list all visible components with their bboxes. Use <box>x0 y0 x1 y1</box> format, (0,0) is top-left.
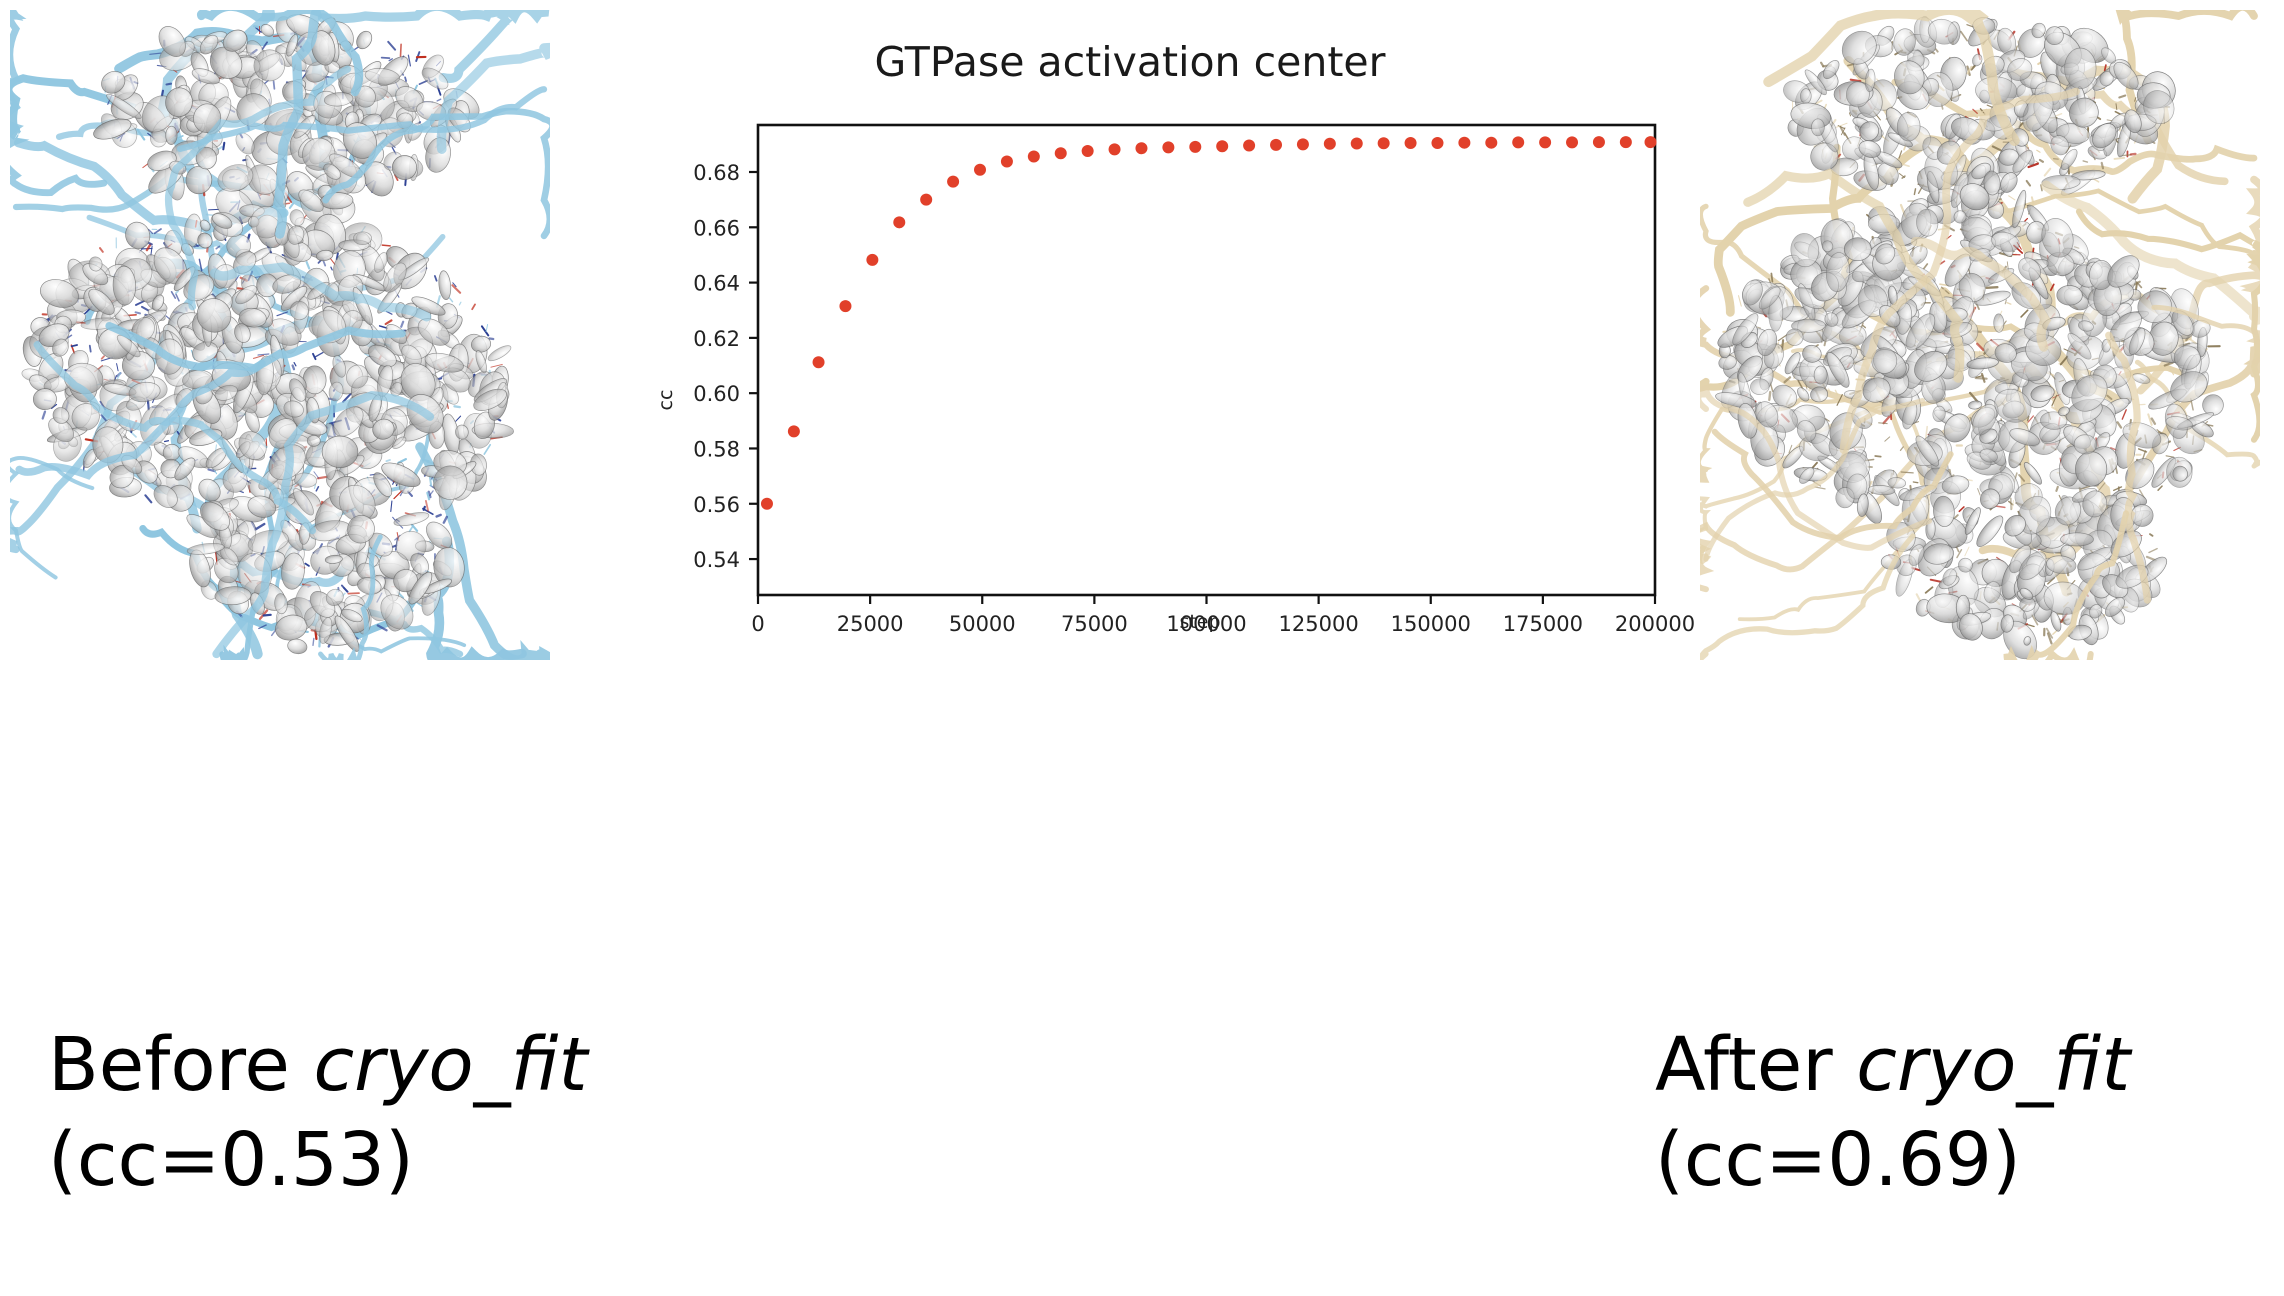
density-blob <box>1971 53 1984 67</box>
density-blob <box>303 366 326 394</box>
plot-frame <box>758 125 1655 595</box>
bond-stick <box>1961 32 1967 41</box>
bond-stick <box>405 77 406 81</box>
bond-stick <box>293 366 294 370</box>
bond-stick <box>102 356 104 358</box>
density-blob <box>1814 366 1827 384</box>
bond-stick <box>1926 587 1933 593</box>
bond-stick <box>2098 117 2101 119</box>
bond-stick <box>315 353 323 357</box>
caption-before-line1: Before cryo_fit <box>48 1018 587 1113</box>
bond-stick <box>1884 417 1890 423</box>
y-tick-label: 0.54 <box>693 548 740 572</box>
data-point <box>1028 151 1040 163</box>
data-point <box>1162 141 1174 153</box>
scatter-series <box>761 136 1657 510</box>
data-point <box>1458 137 1470 149</box>
caption-after-line1: After cryo_fit <box>1655 1018 2130 1113</box>
bond-stick <box>2118 422 2121 427</box>
data-point <box>761 498 773 510</box>
bond-stick <box>331 267 332 270</box>
density-blob <box>1811 119 1825 136</box>
y-tick-label: 0.66 <box>693 216 740 240</box>
data-point <box>788 425 800 437</box>
data-point <box>947 176 959 188</box>
bond-stick <box>1771 274 1772 282</box>
bond-stick <box>2037 150 2040 152</box>
bond-stick <box>391 501 392 511</box>
data-point <box>1109 143 1121 155</box>
cryo-em-density-after <box>1700 10 2260 660</box>
molecule-image-after <box>1700 10 2260 660</box>
bond-stick <box>2045 169 2051 176</box>
data-point <box>1566 136 1578 148</box>
bond-stick <box>2158 486 2162 490</box>
bond-stick <box>136 312 140 313</box>
bond-stick <box>2150 534 2153 536</box>
bond-stick <box>2021 310 2028 317</box>
density-blob <box>274 593 288 614</box>
x-tick-label: 200000 <box>1615 612 1695 636</box>
bond-stick <box>2122 410 2126 419</box>
bond-stick <box>1875 456 1881 457</box>
bond-stick <box>1901 472 1913 473</box>
bond-stick <box>1914 189 1915 195</box>
caption-before-prefix: Before <box>48 1022 313 1108</box>
bond-stick <box>389 59 392 61</box>
bond-stick <box>388 42 395 50</box>
data-point <box>1539 136 1551 148</box>
bond-stick <box>450 298 453 302</box>
bond-stick <box>2005 300 2006 304</box>
bond-stick <box>1900 174 1905 178</box>
y-tick-label: 0.68 <box>693 161 740 185</box>
bond-stick <box>1879 423 1887 424</box>
bond-stick <box>90 346 91 352</box>
density-blob <box>307 435 320 446</box>
caption-after-line2: (cc=0.69) <box>1655 1113 2130 1208</box>
cryo-em-density-before <box>10 10 550 660</box>
x-tick-label: 125000 <box>1279 612 1359 636</box>
y-tick-label: 0.56 <box>693 493 740 517</box>
y-axis-label: cc <box>655 390 677 411</box>
bond-stick <box>1987 105 1992 107</box>
bond-stick <box>1917 594 1920 600</box>
bond-stick <box>2012 501 2013 510</box>
density-blob <box>353 232 371 245</box>
bond-stick <box>142 307 148 311</box>
bond-stick <box>1885 437 1890 441</box>
data-point <box>1001 155 1013 167</box>
bond-stick <box>143 164 148 168</box>
bond-stick <box>2107 120 2112 121</box>
data-point <box>1378 137 1390 149</box>
bond-stick <box>313 639 314 646</box>
bond-stick <box>2149 549 2157 553</box>
bond-stick <box>408 55 410 66</box>
bond-stick <box>486 325 488 332</box>
bond-stick <box>305 564 309 566</box>
bond-stick <box>426 501 428 511</box>
bond-stick <box>258 354 269 355</box>
density-blob <box>2057 285 2083 305</box>
bond-stick <box>255 524 264 530</box>
bond-stick <box>254 26 258 27</box>
bond-stick <box>1931 580 1942 582</box>
data-point <box>1135 142 1147 154</box>
bond-stick <box>430 476 431 485</box>
y-tick-label: 0.60 <box>693 382 740 406</box>
bond-stick <box>2056 487 2057 491</box>
bond-stick <box>151 246 152 255</box>
bond-stick <box>1913 482 1917 483</box>
slide-canvas: GTPase activation center 0.540.560.580.6… <box>0 0 2284 1296</box>
x-tick-label: 25000 <box>837 612 904 636</box>
bond-stick <box>2119 96 2125 98</box>
bond-stick <box>209 209 219 210</box>
density-blob <box>322 436 358 468</box>
bond-stick <box>167 84 172 85</box>
bond-stick <box>72 345 78 346</box>
bond-stick <box>444 517 447 523</box>
bond-stick <box>1957 548 1959 551</box>
data-point <box>1405 137 1417 149</box>
bond-stick <box>2040 160 2043 162</box>
bond-stick <box>136 301 144 305</box>
density-blob <box>2065 48 2097 89</box>
bond-stick <box>294 363 296 366</box>
bond-stick <box>2036 161 2039 163</box>
bond-stick <box>386 320 392 324</box>
data-point <box>1270 139 1282 151</box>
bond-stick <box>459 302 461 305</box>
density-blob <box>1844 237 1871 260</box>
data-point <box>1243 139 1255 151</box>
bond-stick <box>1769 392 1770 400</box>
bond-stick <box>264 615 271 616</box>
bond-stick <box>1924 264 1927 269</box>
bond-stick <box>2027 181 2030 186</box>
bond-stick <box>172 292 176 298</box>
density-blob <box>166 126 178 145</box>
bond-stick <box>148 401 149 410</box>
bond-stick <box>1936 49 1938 51</box>
bond-stick <box>2025 219 2028 221</box>
bond-stick <box>401 322 403 327</box>
data-point <box>813 356 825 368</box>
bond-stick <box>274 81 275 88</box>
bond-stick <box>423 460 428 461</box>
density-blob <box>2061 533 2094 546</box>
bond-stick <box>165 441 169 442</box>
data-point <box>1431 137 1443 149</box>
bond-stick <box>313 354 316 359</box>
bond-stick <box>344 588 348 592</box>
bond-stick <box>2131 154 2136 155</box>
plot-layer: 0.540.560.580.600.620.640.660.6802500050… <box>693 125 1695 636</box>
caption-after-prefix: After <box>1655 1022 1856 1108</box>
data-point <box>1512 136 1524 148</box>
density-blob <box>1993 314 2004 333</box>
data-point <box>839 300 851 312</box>
data-point <box>1351 138 1363 150</box>
y-tick-label: 0.58 <box>693 437 740 461</box>
bond-stick <box>117 364 119 371</box>
bond-stick <box>455 406 460 407</box>
bond-stick <box>238 288 244 289</box>
y-tick-label: 0.64 <box>693 272 740 296</box>
bond-stick <box>223 143 224 150</box>
data-point <box>920 194 932 206</box>
bond-stick <box>2115 158 2125 159</box>
data-point <box>1216 140 1228 152</box>
bond-stick <box>437 515 441 517</box>
bond-stick <box>2152 419 2155 424</box>
bond-stick <box>2055 114 2061 116</box>
bond-stick <box>1965 547 1969 556</box>
bond-stick <box>437 99 441 101</box>
density-blob <box>1836 24 1883 71</box>
data-point <box>1620 136 1632 148</box>
cc-vs-step-chart: GTPase activation center 0.540.560.580.6… <box>560 20 1700 660</box>
caption-after: After cryo_fit (cc=0.69) <box>1655 1018 2130 1207</box>
y-tick-label: 0.62 <box>693 327 740 351</box>
bond-stick <box>490 339 494 340</box>
bond-stick <box>1739 296 1742 306</box>
caption-after-emphasis: cryo_fit <box>1856 1022 2130 1108</box>
bond-stick <box>1815 487 1825 489</box>
density-blob <box>1800 89 1811 104</box>
data-point <box>1082 145 1094 157</box>
bond-stick <box>2102 163 2103 168</box>
bond-stick <box>435 276 437 281</box>
density-blob <box>1897 112 1920 141</box>
ribbon-strand-foreground <box>1700 536 1913 660</box>
scatter-plot: GTPase activation center 0.540.560.580.6… <box>560 20 1700 660</box>
chart-title: GTPase activation center <box>875 38 1386 86</box>
bond-stick <box>2083 161 2087 162</box>
bond-stick <box>316 487 318 491</box>
bond-stick <box>1978 489 1981 496</box>
bond-stick <box>290 204 293 208</box>
molecule-image-before <box>10 10 550 660</box>
data-point <box>866 254 878 266</box>
bond-stick <box>1976 378 1987 379</box>
data-point <box>1055 147 1067 159</box>
bond-stick <box>472 304 475 309</box>
x-tick-label: 175000 <box>1503 612 1583 636</box>
bond-stick <box>176 291 178 293</box>
bond-stick <box>382 245 390 246</box>
bond-stick <box>1901 447 1904 451</box>
bond-stick <box>1926 427 1927 439</box>
x-tick-label: 50000 <box>949 612 1016 636</box>
bond-stick <box>456 416 461 421</box>
bond-stick <box>176 294 179 301</box>
bond-stick <box>162 91 163 96</box>
bond-stick <box>386 460 390 461</box>
bond-stick <box>348 593 359 594</box>
bond-stick <box>216 246 219 248</box>
bond-stick <box>2105 65 2106 70</box>
data-point <box>1593 136 1605 148</box>
bond-stick <box>2166 456 2174 457</box>
density-blob <box>2075 451 2107 486</box>
x-tick-label: 0 <box>751 612 764 636</box>
bond-stick <box>1902 164 1909 166</box>
bond-stick <box>2009 196 2015 200</box>
x-tick-label: 150000 <box>1391 612 1471 636</box>
bond-stick <box>1863 326 1865 328</box>
data-point <box>1189 141 1201 153</box>
data-point <box>1485 137 1497 149</box>
bond-stick <box>43 412 45 419</box>
bond-stick <box>401 44 402 56</box>
x-axis-label: step <box>1179 611 1220 633</box>
bond-stick <box>330 258 335 264</box>
bond-stick <box>145 495 151 502</box>
x-tick-label: 75000 <box>1061 612 1128 636</box>
bond-stick <box>382 58 390 59</box>
bond-stick <box>1987 287 1998 288</box>
caption-before: Before cryo_fit (cc=0.53) <box>48 1018 587 1207</box>
data-point <box>1297 138 1309 150</box>
data-point <box>1324 138 1336 150</box>
data-point <box>893 216 905 228</box>
bond-stick <box>1758 327 1761 328</box>
bond-stick <box>100 248 103 252</box>
bond-stick <box>147 244 151 250</box>
caption-before-emphasis: cryo_fit <box>313 1022 587 1108</box>
bond-stick <box>2007 303 2011 304</box>
bond-stick <box>307 262 310 268</box>
data-point <box>974 164 986 176</box>
density-blob <box>2045 26 2063 44</box>
caption-before-line2: (cc=0.53) <box>48 1113 587 1208</box>
data-point <box>1645 136 1657 148</box>
